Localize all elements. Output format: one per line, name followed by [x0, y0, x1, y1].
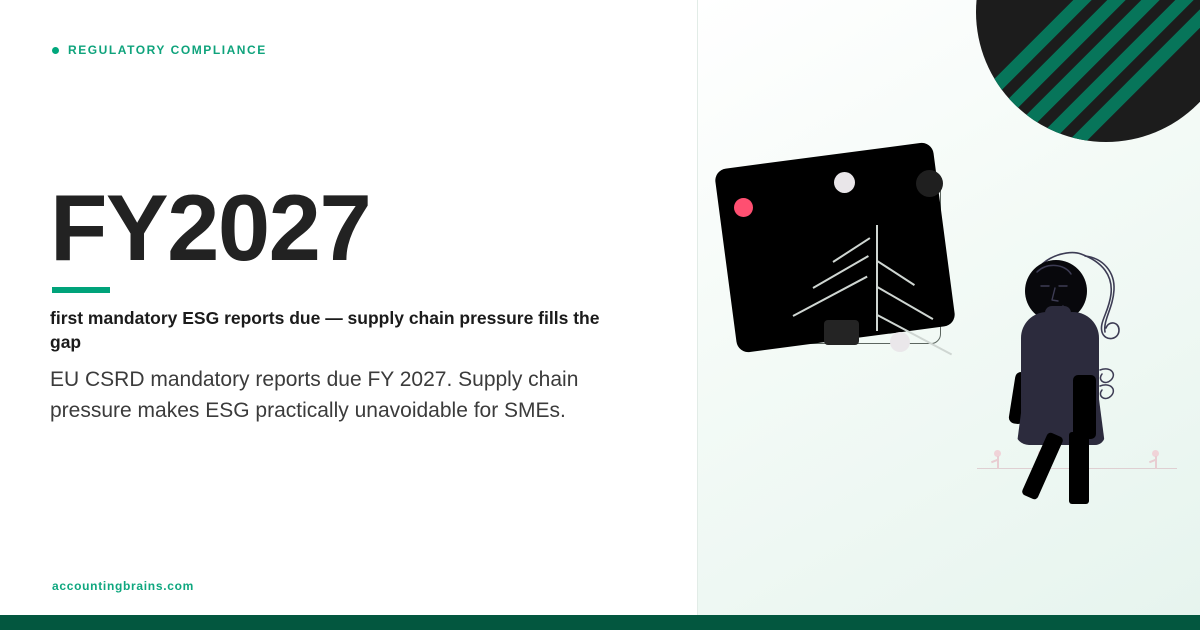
person-leg-front	[1069, 432, 1089, 504]
tree-branch	[877, 260, 915, 286]
dark-dot	[916, 170, 943, 197]
bullet-dot-icon	[52, 47, 59, 54]
bottom-accent-bar	[0, 615, 1200, 630]
walking-person-icon	[1007, 250, 1147, 480]
panel-divider	[697, 0, 698, 615]
tree-branch	[877, 286, 933, 320]
planter-pot-icon	[824, 320, 859, 345]
category-eyebrow: REGULATORY COMPLIANCE	[52, 43, 267, 57]
tree-branch	[813, 255, 869, 289]
social-card: REGULATORY COMPLIANCE FY2027 first manda…	[0, 0, 1200, 630]
pink-dot	[734, 198, 753, 217]
illustration-panel	[697, 0, 1200, 630]
white-dot-bottom	[890, 332, 910, 352]
subheading: first mandatory ESG reports due — supply…	[50, 306, 632, 354]
content-panel: REGULATORY COMPLIANCE FY2027 first manda…	[0, 0, 697, 630]
site-url-label: accountingbrains.com	[52, 579, 194, 593]
tree-branch	[793, 276, 868, 317]
body-text: EU CSRD mandatory reports due FY 2027. S…	[50, 364, 642, 426]
sprout-icon	[1149, 450, 1163, 469]
tree-branch	[877, 314, 952, 355]
accent-rule	[52, 287, 110, 293]
hero-illustration	[697, 0, 1200, 630]
category-label: REGULATORY COMPLIANCE	[68, 43, 267, 57]
person-arm-right	[1073, 375, 1096, 439]
white-dot-top	[834, 172, 855, 193]
sprout-icon	[991, 450, 1005, 469]
page-title: FY2027	[50, 180, 370, 276]
tree-branches-icon	[797, 225, 957, 350]
